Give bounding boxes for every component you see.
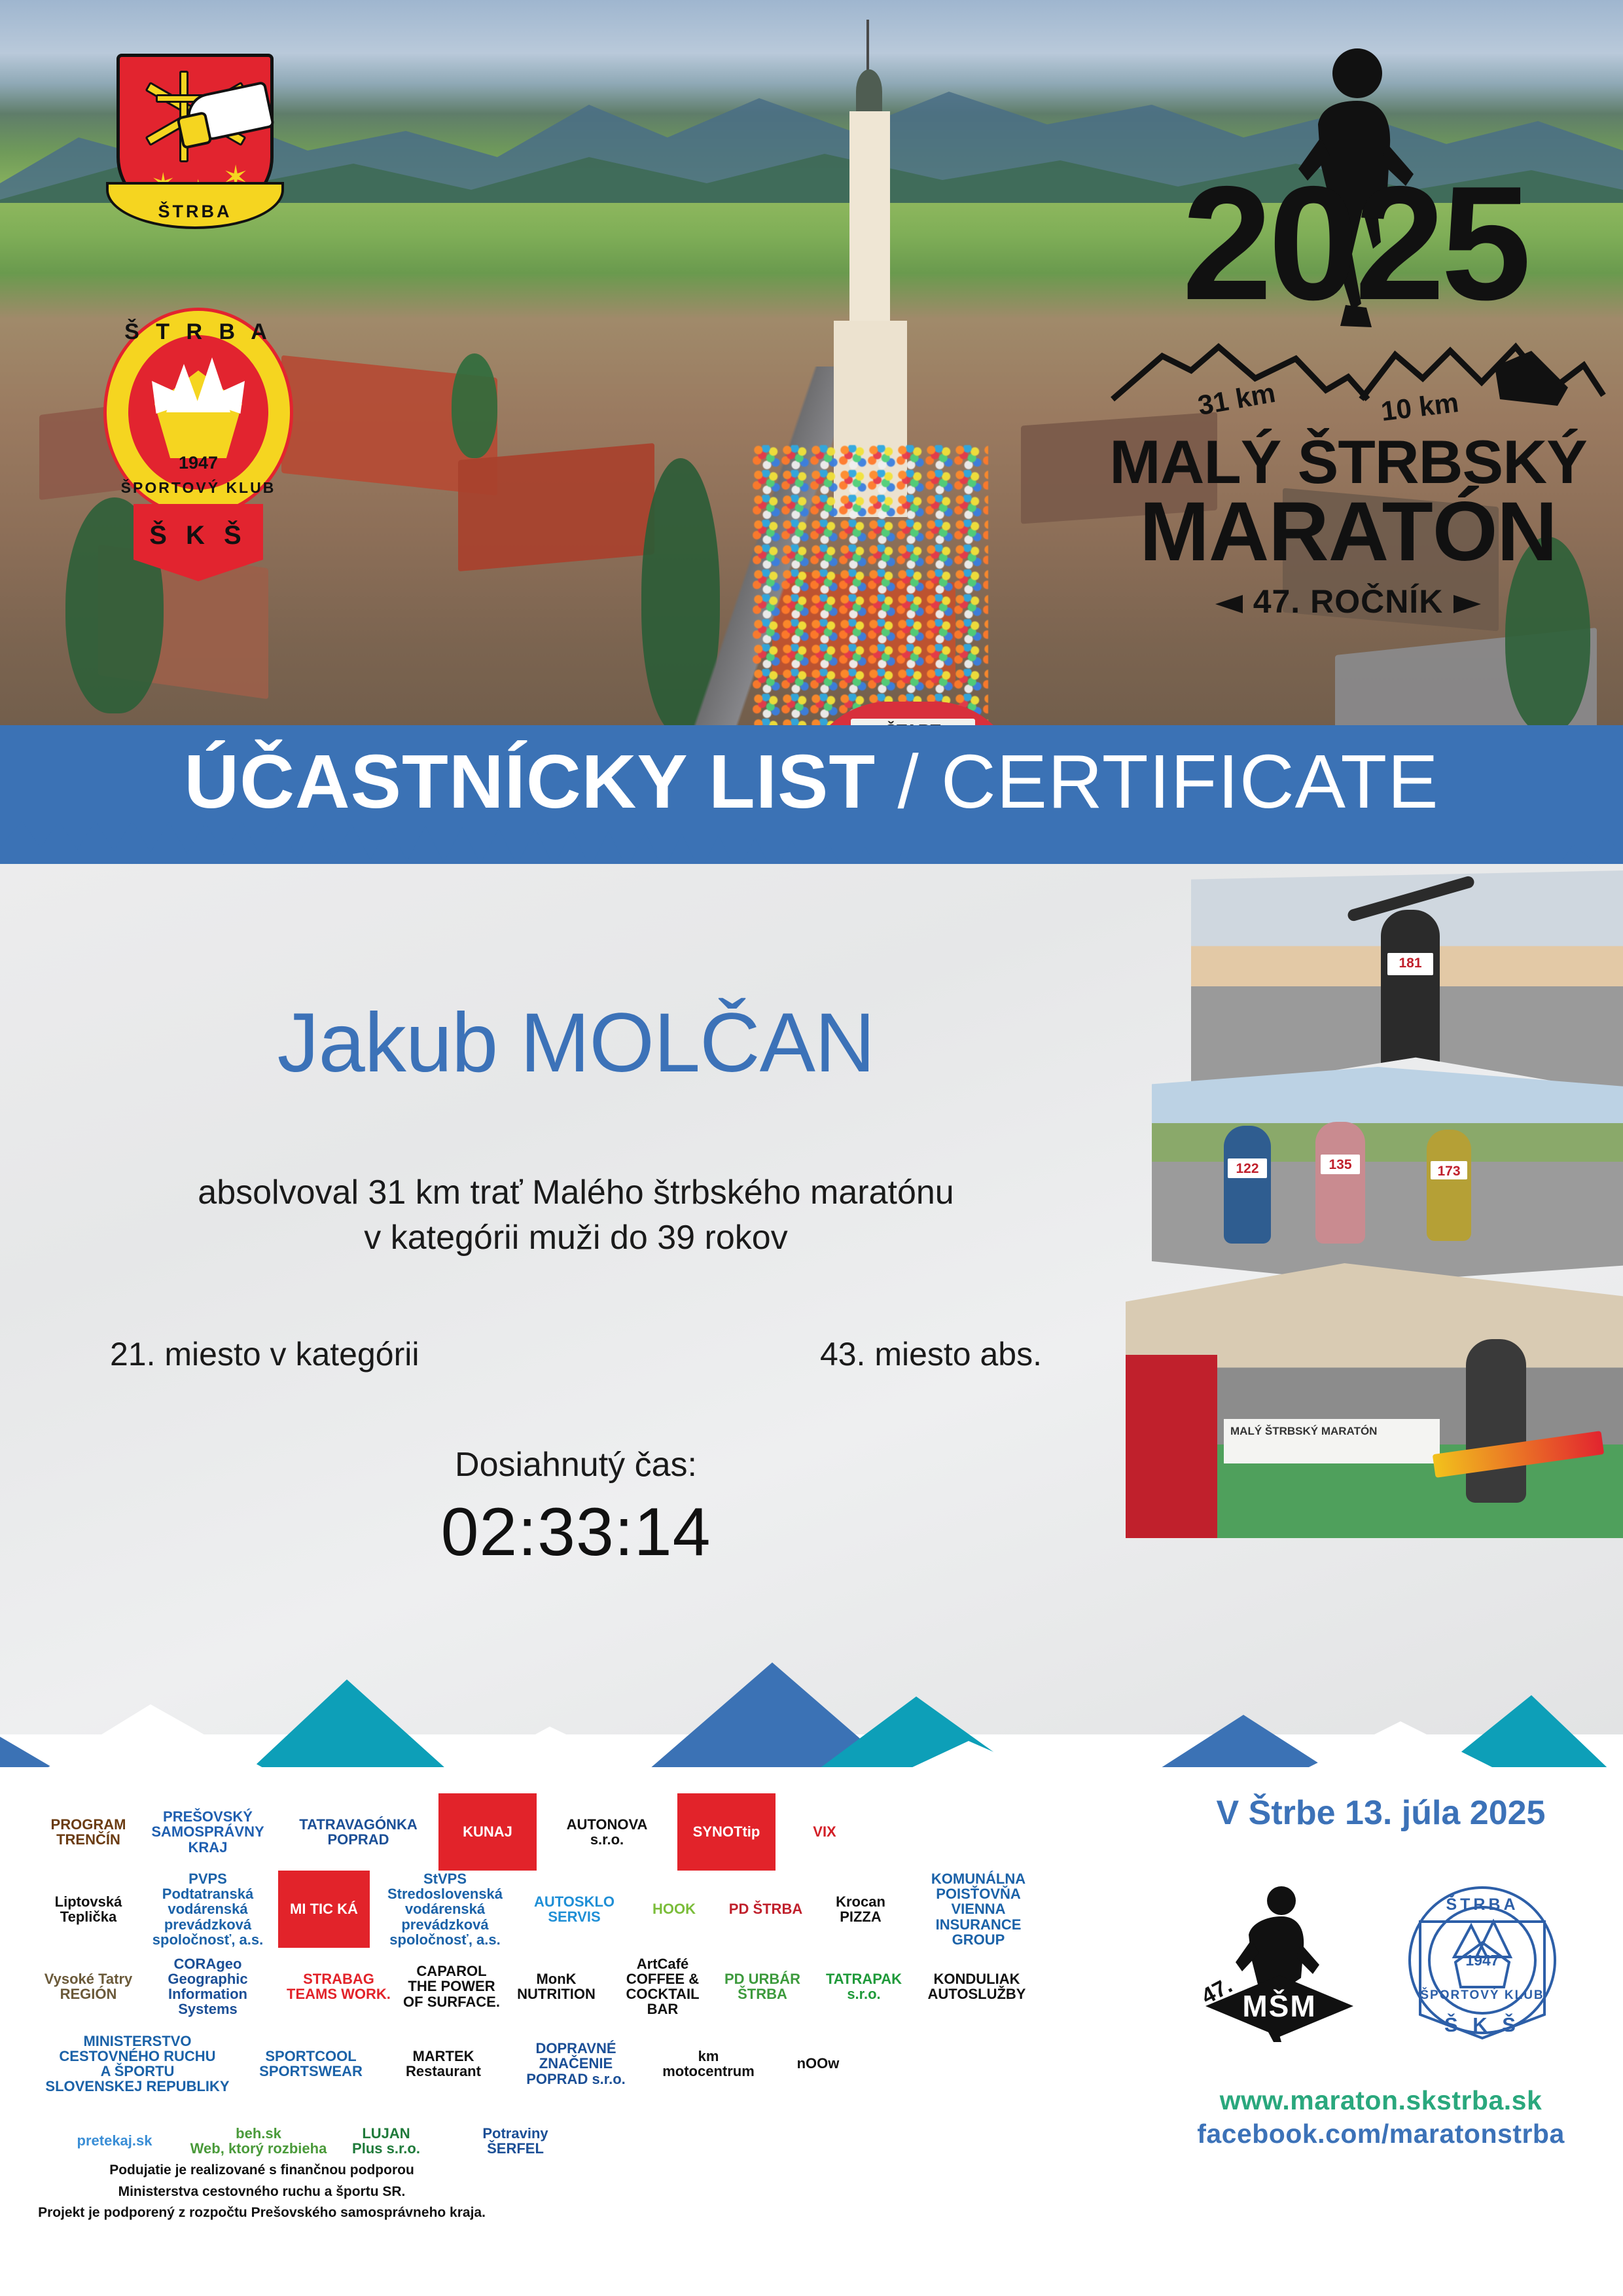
photo-collage: 181 122 135 173 MALÝ ŠTRBSKÝ MARATÓN (1126, 870, 1623, 1721)
sponsor-logo[interactable]: KOMUNÁLNA POISŤOVŇA VIENNA INSURANCE GRO… (910, 1871, 1047, 1948)
sponsor-logo[interactable]: MI TIC KÁ (278, 1871, 370, 1948)
disclaimer-line-2: Ministerstva cestovného ruchu a športu S… (33, 2181, 491, 2203)
sponsor-label: StVPS Stredoslovenská vodárenská prevádz… (370, 1871, 520, 1946)
sponsor-label: nOOw (797, 2056, 840, 2071)
sponsor-logo[interactable]: DOPRAVNÉ ZNAČENIE POPRAD s.r.o. (501, 2025, 651, 2102)
runner-silhouette (1315, 1122, 1365, 1244)
sponsor-label: TATRAPAK s.r.o. (808, 1971, 919, 2001)
sponsor-logo[interactable]: MonK NUTRITION (504, 1948, 609, 2025)
event-date: V Štrbe 13. júla 2025 (1152, 1793, 1610, 1833)
sponsor-logo[interactable]: TATRAPAK s.r.o. (808, 1948, 919, 2025)
msm-logo: MŠM 47. (1198, 1878, 1361, 2042)
sponsor-label: beh.sk Web, ktorý rozbieha (190, 2126, 327, 2156)
sponsor-label: CORAgeo Geographic Information Systems (137, 1956, 278, 2017)
sponsor-logo[interactable]: km motocentrum (651, 2025, 766, 2102)
sponsor-logo[interactable]: SPORTCOOL SPORTSWEAR (236, 2025, 386, 2102)
finish-banner: MALÝ ŠTRBSKÝ MARATÓN (1224, 1419, 1440, 1463)
sponsor-logo[interactable]: ArtCafé COFFEE & COCKTAIL BAR (609, 1948, 717, 2025)
sponsor-label: AUTONOVA s.r.o. (567, 1817, 648, 1847)
race-edition: 47. ROČNÍK (1086, 583, 1610, 620)
sponsor-label: DOPRAVNÉ ZNAČENIE POPRAD s.r.o. (526, 2041, 626, 2086)
sponsor-logo[interactable]: VIX (776, 1793, 874, 1871)
runner-silhouette (1466, 1339, 1526, 1503)
stamp-arc-label: ŠPORTOVÝ KLUB (1400, 1988, 1564, 2003)
bib-number: 135 (1321, 1155, 1360, 1174)
strba-coat-of-arms: ✶ ✶ ✶ ŠTRBA (116, 54, 274, 250)
page-title: ÚČASTNÍCKY LIST / CERTIFICATE (0, 744, 1623, 819)
photo-finisher-jumping: 181 (1191, 870, 1623, 1093)
sponsor-logo[interactable]: HOOK (628, 1871, 720, 1948)
sponsor-label: PVPS Podtatranská vodárenská prevádzková… (137, 1871, 278, 1946)
sponsor-logo[interactable]: StVPS Stredoslovenská vodárenská prevádz… (370, 1871, 520, 1948)
sponsor-logo[interactable]: Liptovská Teplička (39, 1871, 137, 1948)
disclaimer-line-1: Podujatie je realizované s finančnou pod… (33, 2160, 491, 2181)
sponsor-logo[interactable]: STRABAG TEAMS WORK. (278, 1948, 399, 2025)
certificate-content: Jakub MOLČAN absolvoval 31 km trať Maléh… (0, 903, 1152, 1571)
stamp-bottom-label: Š K Š (1400, 2013, 1564, 2037)
stamp-top-label: ŠTRBA (1400, 1895, 1564, 1914)
sponsor-label: MINISTERSTVO CESTOVNÉHO RUCHU A ŠPORTU S… (45, 2034, 229, 2094)
sponsor-logo[interactable]: MINISTERSTVO CESTOVNÉHO RUCHU A ŠPORTU S… (39, 2025, 236, 2102)
place-absolute: 43. miesto abs. (820, 1335, 1042, 1373)
sponsor-logo[interactable]: CORAgeo Geographic Information Systems (137, 1948, 278, 2025)
sponsor-label: TATRAVAGÓNKA POPRAD (299, 1817, 417, 1847)
runner-silhouette (1381, 910, 1440, 1073)
sponsor-logo[interactable]: PREŠOVSKÝ SAMOSPRÁVNY KRAJ (137, 1793, 278, 1871)
sponsor-grid: PROGRAM TRENČÍNPREŠOVSKÝ SAMOSPRÁVNY KRA… (39, 1793, 1139, 2179)
facebook-url[interactable]: facebook.com/maratonstrba (1152, 2119, 1610, 2149)
sponsor-label: PD ŠTRBA (729, 1901, 802, 1916)
stamp-year-label: 1947 (1400, 1952, 1564, 1969)
sponsor-logo[interactable]: CAPAROL THE POWER OF SURFACE. (399, 1948, 504, 2025)
sponsor-label: KOMUNÁLNA POISŤOVŇA VIENNA INSURANCE GRO… (910, 1871, 1047, 1946)
sponsor-row: PROGRAM TRENČÍNPREŠOVSKÝ SAMOSPRÁVNY KRA… (39, 1793, 1139, 1871)
sponsor-label: AUTOSKLO SERVIS (534, 1894, 615, 1924)
sponsor-label: ArtCafé COFFEE & COCKTAIL BAR (609, 1956, 717, 2017)
mountain-outline-icon (1099, 327, 1610, 419)
photo-runners-hill: 122 135 173 (1152, 1067, 1623, 1283)
bib-number: 173 (1431, 1161, 1467, 1179)
sponsor-label: SPORTCOOL SPORTSWEAR (259, 2049, 363, 2079)
sponsor-logo[interactable]: KUNAJ (438, 1793, 537, 1871)
sponsor-logo[interactable]: nOOw (766, 2025, 870, 2102)
sponsor-label: KONDULIAK AUTOSLUŽBY (928, 1971, 1026, 2001)
sponsor-label: Vysoké Tatry REGIÓN (45, 1971, 133, 2001)
coa-ribbon: ŠTRBA (106, 182, 284, 229)
sponsor-logo[interactable]: PD URBÁR ŠTRBA (717, 1948, 808, 2025)
bib-number: 181 (1387, 953, 1433, 975)
sponsor-label: SYNOTtip (693, 1824, 760, 1839)
race-year: 2025 (1106, 177, 1603, 310)
footer-logos: MŠM 47. ŠTRBA 1947 ŠPORTOVÝ KLUB Š (1152, 1878, 1610, 2042)
sponsor-label: PROGRAM TRENČÍN (51, 1817, 126, 1847)
sks-top-label: Š T R B A (103, 319, 293, 345)
sponsor-logo[interactable]: TATRAVAGÓNKA POPRAD (278, 1793, 438, 1871)
sponsor-label: PD URBÁR ŠTRBA (724, 1971, 800, 2001)
certificate-page: ŠTART ✶ ✶ ✶ ŠTRBA Š T R B A (0, 0, 1623, 2296)
photo-finish-line: MALÝ ŠTRBSKÝ MARATÓN (1126, 1263, 1623, 1538)
sponsor-label: Liptovská Teplička (55, 1894, 122, 1924)
sponsor-label: PREŠOVSKÝ SAMOSPRÁVNY KRAJ (151, 1809, 264, 1854)
sponsor-logo[interactable]: MARTEK Restaurant (386, 2025, 501, 2102)
race-logo: 2025 31 km 10 km MALÝ ŠTRBSKÝ MARATÓN 47… (1073, 39, 1623, 628)
sponsor-logo[interactable]: AUTONOVA s.r.o. (537, 1793, 677, 1871)
tree-shape (452, 353, 497, 458)
placement-row: 21. miesto v kategórii 43. miesto abs. (0, 1335, 1152, 1373)
sks-club-logo: Š T R B A 1947 ŠPORTOVÝ KLUB Š K Š (103, 308, 293, 583)
sponsor-logo[interactable]: SYNOTtip (677, 1793, 776, 1871)
sponsor-label: KUNAJ (463, 1824, 512, 1839)
title-separator: / (876, 739, 941, 824)
race-title-line1: MALÝ ŠTRBSKÝ (1086, 432, 1610, 492)
sponsor-label: HOOK (652, 1901, 696, 1916)
funding-disclaimer: Podujatie je realizované s finančnou pod… (33, 2160, 491, 2224)
sks-year-label: 1947 (103, 453, 293, 473)
sponsor-logo[interactable]: AUTOSKLO SERVIS (520, 1871, 628, 1948)
sponsor-logo[interactable]: KONDULIAK AUTOSLUŽBY (919, 1948, 1034, 2025)
sponsor-label: Krocan PIZZA (836, 1894, 885, 1924)
disclaimer-line-3: Projekt je podporený z rozpočtu Prešovsk… (33, 2202, 491, 2224)
church-tower (826, 20, 918, 517)
sponsor-label: MI TIC KÁ (290, 1901, 358, 1916)
race-edition-label: 47. ROČNÍK (1253, 583, 1444, 620)
distance-mountains: 31 km 10 km (1099, 327, 1610, 419)
sponsor-row: Liptovská TepličkaPVPS Podtatranská vodá… (39, 1871, 1139, 1948)
place-category: 21. miesto v kategórii (110, 1335, 419, 1373)
sponsor-label: STRABAG TEAMS WORK. (287, 1971, 391, 2001)
sponsor-label: MonK NUTRITION (517, 1971, 596, 2001)
sponsor-label: CAPAROL THE POWER OF SURFACE. (399, 1964, 504, 2009)
description-line-1: absolvoval 31 km trať Malého štrbského m… (0, 1170, 1152, 1215)
triangle-right-icon (1454, 595, 1481, 613)
coa-ribbon-label: ŠTRBA (109, 202, 281, 222)
sks-banner: Š K Š (134, 504, 263, 581)
footer-right-column: V Štrbe 13. júla 2025 MŠM 47. (1152, 1793, 1610, 2149)
roof-shape (458, 443, 654, 571)
sks-banner-label: Š K Š (136, 521, 260, 550)
race-title-line2: MARATÓN (1086, 491, 1610, 573)
runner-silhouette (1427, 1130, 1471, 1241)
finish-time: 02:33:14 (0, 1494, 1152, 1571)
sponsor-row: Vysoké Tatry REGIÓNCORAgeo Geographic In… (39, 1948, 1139, 2025)
sponsor-label: VIX (813, 1824, 836, 1839)
sponsor-row: MINISTERSTVO CESTOVNÉHO RUCHU A ŠPORTU S… (39, 2025, 1139, 2102)
title-normal-part: CERTIFICATE (941, 739, 1439, 824)
sponsor-label: pretekaj.sk (77, 2133, 152, 2148)
sponsor-logo[interactable]: PROGRAM TRENČÍN (39, 1793, 137, 1871)
sponsor-label: km motocentrum (662, 2049, 755, 2079)
description-line-2: v kategórii muži do 39 rokov (0, 1215, 1152, 1261)
backdrop-red-panel (1126, 1355, 1217, 1538)
bib-number: 122 (1228, 1158, 1267, 1178)
participant-name: Jakub MOLČAN (0, 903, 1152, 1085)
runner-silhouette (1224, 1126, 1271, 1244)
sponsor-label: LUJAN Plus s.r.o. (352, 2126, 420, 2156)
hero-aerial-photo: ŠTART ✶ ✶ ✶ ŠTRBA Š T R B A (0, 0, 1623, 759)
sponsor-logo[interactable]: PD ŠTRBA (720, 1871, 811, 1948)
time-label: Dosiahnutý čas: (0, 1445, 1152, 1484)
title-bold-part: ÚČASTNÍCKY LIST (184, 739, 876, 824)
cuff-icon (176, 111, 212, 149)
sks-stamp-logo: ŠTRBA 1947 ŠPORTOVÝ KLUB Š K Š (1400, 1878, 1564, 2042)
sponsor-logo[interactable]: Vysoké Tatry REGIÓN (39, 1948, 137, 2025)
sponsor-area: PROGRAM TRENČÍNPREŠOVSKÝ SAMOSPRÁVNY KRA… (0, 1767, 1623, 2296)
sponsor-label: Potraviny ŠERFEL (482, 2126, 548, 2156)
sks-arc-label: ŠPORTOVÝ KLUB (103, 479, 293, 497)
triangle-left-icon (1215, 595, 1243, 613)
sponsor-logo[interactable]: Krocan PIZZA (811, 1871, 910, 1948)
website-url[interactable]: www.maraton.skstrba.sk (1152, 2085, 1610, 2116)
sponsor-label: MARTEK Restaurant (406, 2049, 481, 2079)
certificate-description: absolvoval 31 km trať Malého štrbského m… (0, 1170, 1152, 1260)
sponsor-logo[interactable]: PVPS Podtatranská vodárenská prevádzková… (137, 1871, 278, 1948)
